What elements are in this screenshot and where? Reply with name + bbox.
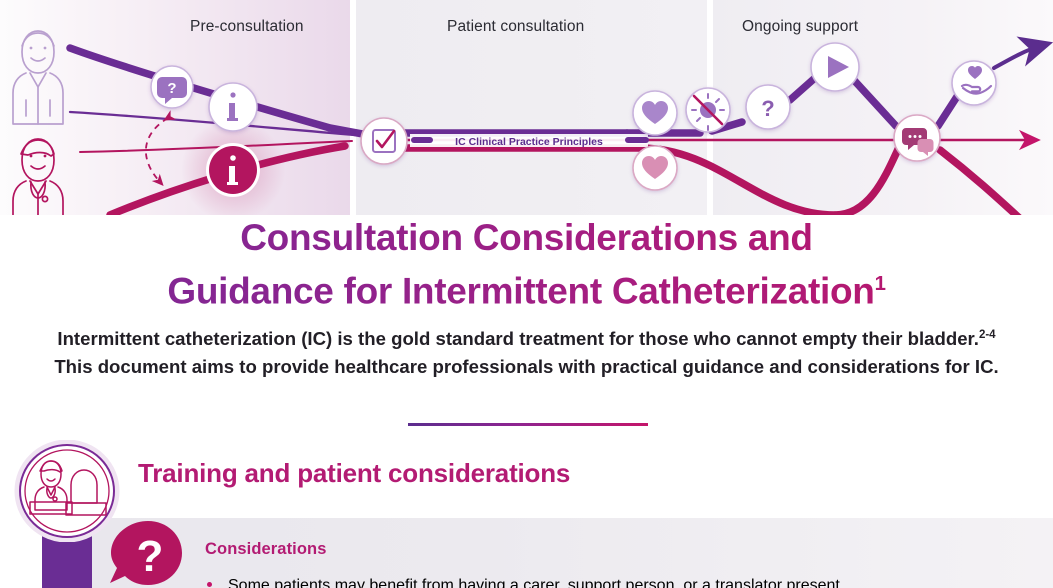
question-mark-bubble-icon: ? xyxy=(108,517,188,588)
checklist-icon xyxy=(361,118,407,164)
principles-label-text: IC Clinical Practice Principles xyxy=(455,136,603,148)
question-circle-icon: ? xyxy=(746,85,790,129)
info-circle-filled-icon xyxy=(206,143,260,197)
doctor-figure-icon xyxy=(13,139,63,215)
intro-paragraph-part2: This document aims to provide healthcare… xyxy=(54,356,998,377)
svg-text:?: ? xyxy=(137,532,164,581)
page-title-line2: Guidance for Intermittent Catheterizatio… xyxy=(167,270,874,311)
consultation-desk-icon xyxy=(14,440,120,542)
patient-journey-banner: Pre-consultation Patient consultation On… xyxy=(0,0,1053,215)
chat-bubbles-icon xyxy=(894,115,940,161)
heart-purple-icon xyxy=(633,91,677,135)
intro-paragraph-part1: Intermittent catheterization (IC) is the… xyxy=(57,328,979,349)
info-circle-light-icon xyxy=(209,83,257,131)
considerations-label: Considerations xyxy=(205,540,327,559)
gradient-divider xyxy=(408,423,648,426)
nurse-figure-icon xyxy=(13,31,63,124)
page-title: Consultation Considerations and Guidance… xyxy=(0,214,1053,314)
section-heading: Training and patient considerations xyxy=(138,458,570,489)
heart-pink-icon xyxy=(633,146,677,190)
page-title-line1: Consultation Considerations and xyxy=(240,217,812,258)
journey-diagram: ? xyxy=(0,0,1053,215)
svg-text:?: ? xyxy=(761,96,774,121)
intro-paragraph: Intermittent catheterization (IC) is the… xyxy=(46,322,1007,380)
hand-heart-icon xyxy=(952,61,996,105)
play-circle-icon xyxy=(811,43,859,91)
infographic-page: Pre-consultation Patient consultation On… xyxy=(0,0,1053,588)
bullet-marker xyxy=(207,582,212,587)
bullet-item-0: Some patients may benefit from having a … xyxy=(228,577,840,588)
page-title-superscript: 1 xyxy=(875,273,886,295)
question-speech-bubble-icon: ? xyxy=(151,66,193,108)
no-infection-icon xyxy=(686,88,730,132)
svg-text:?: ? xyxy=(167,80,176,97)
intro-paragraph-superscript: 2-4 xyxy=(979,329,996,341)
